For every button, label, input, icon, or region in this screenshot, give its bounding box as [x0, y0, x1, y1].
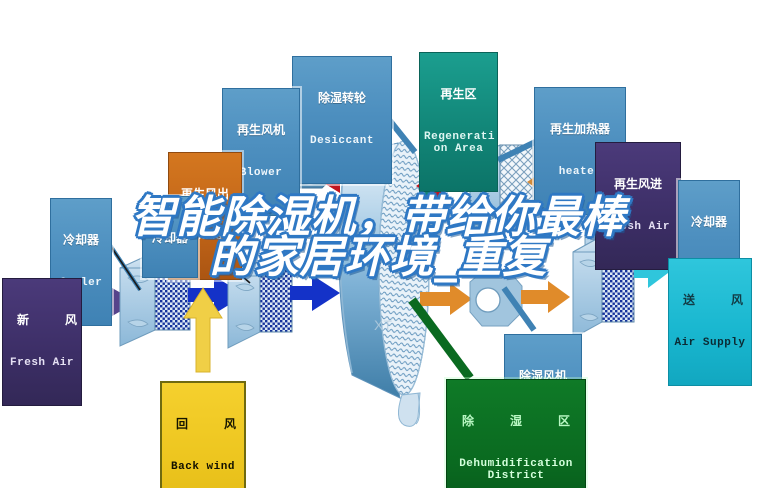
diagram-canvas: XT: [0, 0, 757, 488]
label-air-supply-en: Air Supply: [673, 338, 747, 349]
label-desiccant[interactable]: 除湿转轮 Desiccant: [292, 56, 392, 184]
label-cooler-right-cn: 冷却器: [683, 216, 735, 228]
label-regen-fresh-air[interactable]: 再生风进 Fresh Air: [595, 142, 681, 270]
label-regen-blower-cn: 再生风机: [227, 124, 295, 136]
label-fresh-air[interactable]: 新 风 Fresh Air: [2, 278, 82, 406]
label-fresh-air-cn: 新 风: [7, 314, 77, 326]
label-regen-fresh-air-cn: 再生风进: [600, 178, 676, 190]
label-desiccant-cn: 除湿转轮: [297, 92, 387, 104]
label-cooler-mid[interactable]: 冷却器: [142, 196, 198, 278]
label-regeneration-area[interactable]: 再生区 Regenerati on Area: [419, 52, 498, 192]
label-back-wind[interactable]: 回 风 Back wind: [160, 381, 246, 488]
label-desiccant-en: Desiccant: [297, 136, 387, 147]
label-dehumid-district-en: Dehumidification District: [451, 459, 581, 481]
label-regeneration-area-en: Regenerati on Area: [424, 132, 493, 154]
svg-text:XT: XT: [374, 317, 392, 333]
label-back-wind-cn: 回 风: [166, 418, 240, 430]
label-back-wind-en: Back wind: [166, 462, 240, 473]
label-air-supply-cn: 送 风: [673, 294, 747, 306]
label-dehumid-district-cn: 除 湿 区: [451, 415, 581, 427]
label-cooler-left-cn: 冷却器: [55, 234, 107, 246]
supply-arrow-2: [521, 281, 570, 313]
label-cooler-mid-cn: 冷却器: [147, 232, 193, 244]
label-regen-fresh-air-en: Fresh Air: [600, 222, 676, 233]
label-dehumid-district[interactable]: 除 湿 区 Dehumidification District: [446, 379, 586, 488]
label-fresh-air-en: Fresh Air: [7, 358, 77, 369]
label-regeneration-area-cn: 再生区: [424, 88, 493, 100]
label-air-supply[interactable]: 送 风 Air Supply: [668, 258, 752, 386]
process-air-arrow-2: [290, 275, 340, 311]
label-regen-heater-cn: 再生加热器: [539, 123, 621, 135]
